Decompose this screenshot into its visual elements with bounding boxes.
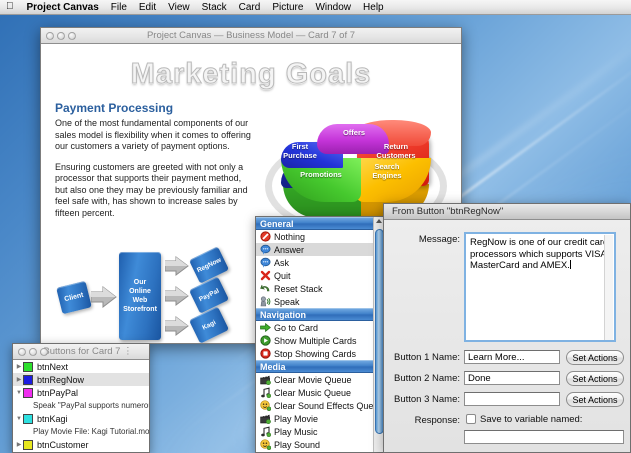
flow-node-kagi: Kagi	[189, 306, 229, 343]
action-item-label: Answer	[274, 245, 304, 255]
button-list-item-label: btnKagi	[37, 414, 68, 424]
variable-name-input[interactable]	[464, 430, 624, 444]
buttons-window-titlebar[interactable]: Buttons for Card 7 ⋮	[13, 344, 149, 360]
button-inspector-window[interactable]: From Button "btnRegNow" Message: RegNow …	[383, 203, 631, 453]
card-body-text: One of the most fundamental components o…	[55, 118, 255, 219]
flow-arrow-client-to-storefront	[91, 286, 117, 308]
action-list-item[interactable]: Reset Stack	[256, 282, 384, 295]
action-item-label: Reset Stack	[274, 284, 323, 294]
scroll-up-arrow-icon[interactable]	[376, 219, 382, 223]
sound-face-icon	[260, 439, 271, 450]
button-3-name-input[interactable]	[464, 392, 560, 406]
action-list-item[interactable]: Play Movie	[256, 412, 384, 425]
menu-item-view[interactable]: View	[162, 2, 196, 13]
play-circle-icon	[260, 335, 271, 346]
zoom-icon[interactable]	[68, 32, 76, 40]
button-2-name-input[interactable]: Done	[464, 371, 560, 385]
action-item-label: Nothing	[274, 232, 305, 242]
pie-label-promotions: Promotions	[293, 170, 349, 179]
music-note-icon	[260, 387, 271, 398]
set-actions-button-2[interactable]: Set Actions	[566, 371, 624, 386]
buttons-list-window[interactable]: Buttons for Card 7 ⋮ ▶btnNext▶btnRegNow▼…	[12, 343, 150, 453]
action-item-label: Play Music	[274, 427, 318, 437]
button-list-item[interactable]: ▶btnRegNow	[13, 373, 149, 386]
action-list-item[interactable]: Speak	[256, 295, 384, 308]
pie-label-return-customers: Return Customers	[367, 142, 425, 160]
button-list-item[interactable]: ▼btnKagi	[13, 412, 149, 425]
button-3-name-label: Button 3 Name:	[384, 394, 460, 405]
menu-item-help[interactable]: Help	[357, 2, 390, 13]
message-input[interactable]: RegNow is one of our credit card process…	[464, 232, 616, 342]
action-list-item[interactable]: Clear Sound Effects Queue	[256, 399, 384, 412]
set-actions-button-3[interactable]: Set Actions	[566, 392, 624, 407]
action-item-label: Stop Showing Cards	[274, 349, 356, 359]
document-title: Project Canvas — Business Model — Card 7…	[41, 30, 461, 41]
action-item-label: Speak	[274, 297, 300, 307]
action-list-item[interactable]: Play Music	[256, 425, 384, 438]
music-note-icon	[260, 426, 271, 437]
action-list-item[interactable]: Clear Movie Queue	[256, 373, 384, 386]
pie-label-first-purchase: First Purchase	[277, 142, 323, 160]
action-item-label: Clear Music Queue	[274, 388, 351, 398]
flow-arrow-to-regnow	[165, 256, 189, 276]
set-actions-button-1[interactable]: Set Actions	[566, 350, 624, 365]
card-section-title: Payment Processing	[55, 101, 173, 115]
card-paragraph-2: Ensuring customers are greeted with not …	[55, 162, 255, 220]
menu-bar:  Project Canvas File Edit View Stack Ca…	[0, 0, 631, 15]
menu-item-window[interactable]: Window	[309, 2, 357, 13]
action-item-label: Ask	[274, 258, 289, 268]
actions-group-header: Media	[256, 360, 384, 373]
stop-circle-icon	[260, 348, 271, 359]
sound-face-icon	[260, 400, 271, 411]
button-color-swatch	[23, 440, 33, 450]
disclosure-down-icon[interactable]: ▼	[15, 390, 23, 396]
action-list-item[interactable]: Stop Showing Cards	[256, 347, 384, 360]
inspector-body: Message: RegNow is one of our credit car…	[384, 220, 630, 452]
disclosure-right-icon[interactable]: ▶	[15, 376, 23, 383]
action-list-item[interactable]: Show Multiple Cards	[256, 334, 384, 347]
green-arrow-icon	[260, 322, 271, 333]
inspector-title: From Button "btnRegNow"	[384, 206, 630, 217]
flow-arrow-to-kagi	[165, 316, 189, 336]
minimize-icon[interactable]	[29, 348, 37, 356]
disclosure-right-icon[interactable]: ▶	[15, 441, 23, 448]
window-controls[interactable]	[41, 32, 76, 40]
text-caret	[570, 260, 571, 269]
button-color-swatch	[23, 375, 33, 385]
actions-list[interactable]: GeneralNothingAnswerAskQuitReset StackSp…	[256, 217, 384, 451]
save-to-variable-label: Save to variable named:	[480, 414, 582, 425]
clapperboard-icon	[260, 374, 271, 385]
menu-item-picture[interactable]: Picture	[266, 2, 309, 13]
action-item-label: Quit	[274, 271, 291, 281]
menu-item-stack[interactable]: Stack	[196, 2, 233, 13]
button-color-swatch	[23, 362, 33, 372]
action-item-label: Show Multiple Cards	[274, 336, 357, 346]
flow-diagram: Client OurOnlineWebStorefront	[59, 250, 249, 342]
action-list-item[interactable]: Go to Card	[256, 321, 384, 334]
action-list-item[interactable]: Clear Music Queue	[256, 386, 384, 399]
card-headline: Marketing Goals	[41, 58, 461, 91]
buttons-window-controls[interactable]	[13, 348, 48, 356]
document-titlebar[interactable]: Project Canvas — Business Model — Card 7…	[41, 28, 461, 44]
apple-icon[interactable]: 	[6, 2, 14, 12]
action-list-item[interactable]: Ask	[256, 256, 384, 269]
actions-palette[interactable]: GeneralNothingAnswerAskQuitReset StackSp…	[255, 216, 385, 453]
button-list-item-label: btnRegNow	[37, 375, 84, 385]
flow-arrow-to-paypal	[165, 286, 189, 306]
action-item-label: Go to Card	[274, 323, 318, 333]
flow-node-regnow: RegNow	[189, 246, 229, 283]
button-action-detail: Play Movie File: Kagi Tutorial.mov	[13, 425, 149, 438]
flow-node-storefront-label: OurOnlineWebStorefront	[123, 278, 157, 314]
button-list-item-label: btnNext	[37, 362, 68, 372]
zoom-icon[interactable]	[40, 348, 48, 356]
menu-item-edit[interactable]: Edit	[133, 2, 162, 13]
prohibition-icon	[260, 231, 271, 242]
action-list-item[interactable]: Quit	[256, 269, 384, 282]
inspector-titlebar[interactable]: From Button "btnRegNow"	[384, 204, 630, 220]
clapperboard-icon	[260, 413, 271, 424]
menu-app-name[interactable]: Project Canvas	[21, 2, 105, 13]
menu-item-card[interactable]: Card	[233, 2, 267, 13]
button-list-item-label: btnPayPal	[37, 388, 78, 398]
actions-group-header: General	[256, 217, 384, 230]
button-list-item[interactable]: ▼btnPayPal	[13, 386, 149, 399]
button-color-swatch	[23, 414, 33, 424]
pie-label-offers: Offers	[331, 128, 377, 137]
button-list-item[interactable]: ▶btnNext	[13, 360, 149, 373]
button-action-detail: Speak "PayPal supports numerous payme...	[13, 399, 149, 412]
button-1-name-input[interactable]: Learn More...	[464, 350, 560, 364]
action-item-label: Play Movie	[274, 414, 318, 424]
response-label: Response:	[384, 415, 460, 426]
button-list-item-label: btnCustomer	[37, 440, 89, 450]
close-icon[interactable]	[46, 32, 54, 40]
buttons-tree-list[interactable]: ▶btnNext▶btnRegNow▼btnPayPalSpeak "PayPa…	[13, 360, 149, 453]
flow-node-storefront: OurOnlineWebStorefront	[119, 252, 161, 340]
red-x-icon	[260, 270, 271, 281]
card-paragraph-1: One of the most fundamental components o…	[55, 118, 255, 153]
message-input-value: RegNow is one of our credit card process…	[470, 237, 609, 271]
disclosure-down-icon[interactable]: ▼	[15, 416, 23, 422]
button-color-swatch	[23, 388, 33, 398]
button-list-item[interactable]: ▶btnCustomer	[13, 438, 149, 451]
save-to-variable-checkbox[interactable]	[466, 414, 476, 424]
flow-node-client: Client	[56, 281, 92, 314]
speech-bubble-icon	[260, 257, 271, 268]
undo-arrow-icon	[260, 283, 271, 294]
action-list-item[interactable]: Nothing	[256, 230, 384, 243]
message-label: Message:	[388, 234, 460, 245]
button-2-name-label: Button 2 Name:	[384, 373, 460, 384]
action-list-item[interactable]: Answer	[256, 243, 384, 256]
speak-icon	[260, 296, 271, 307]
action-item-label: Clear Sound Effects Queue	[274, 401, 383, 411]
minimize-icon[interactable]	[57, 32, 65, 40]
actions-group-header: Navigation	[256, 308, 384, 321]
action-item-label: Clear Movie Queue	[274, 375, 352, 385]
button-1-name-label: Button 1 Name:	[384, 352, 460, 363]
speech-bubble-icon	[260, 244, 271, 255]
pie-label-search-engines: Search Engines	[365, 162, 409, 180]
action-item-label: Play Sound	[274, 440, 320, 450]
disclosure-right-icon[interactable]: ▶	[15, 363, 23, 370]
close-icon[interactable]	[18, 348, 26, 356]
flow-node-paypal: PayPal	[189, 276, 229, 313]
action-list-item[interactable]: Play Sound	[256, 438, 384, 451]
menu-item-file[interactable]: File	[105, 2, 133, 13]
message-scrollbar[interactable]	[604, 235, 613, 341]
